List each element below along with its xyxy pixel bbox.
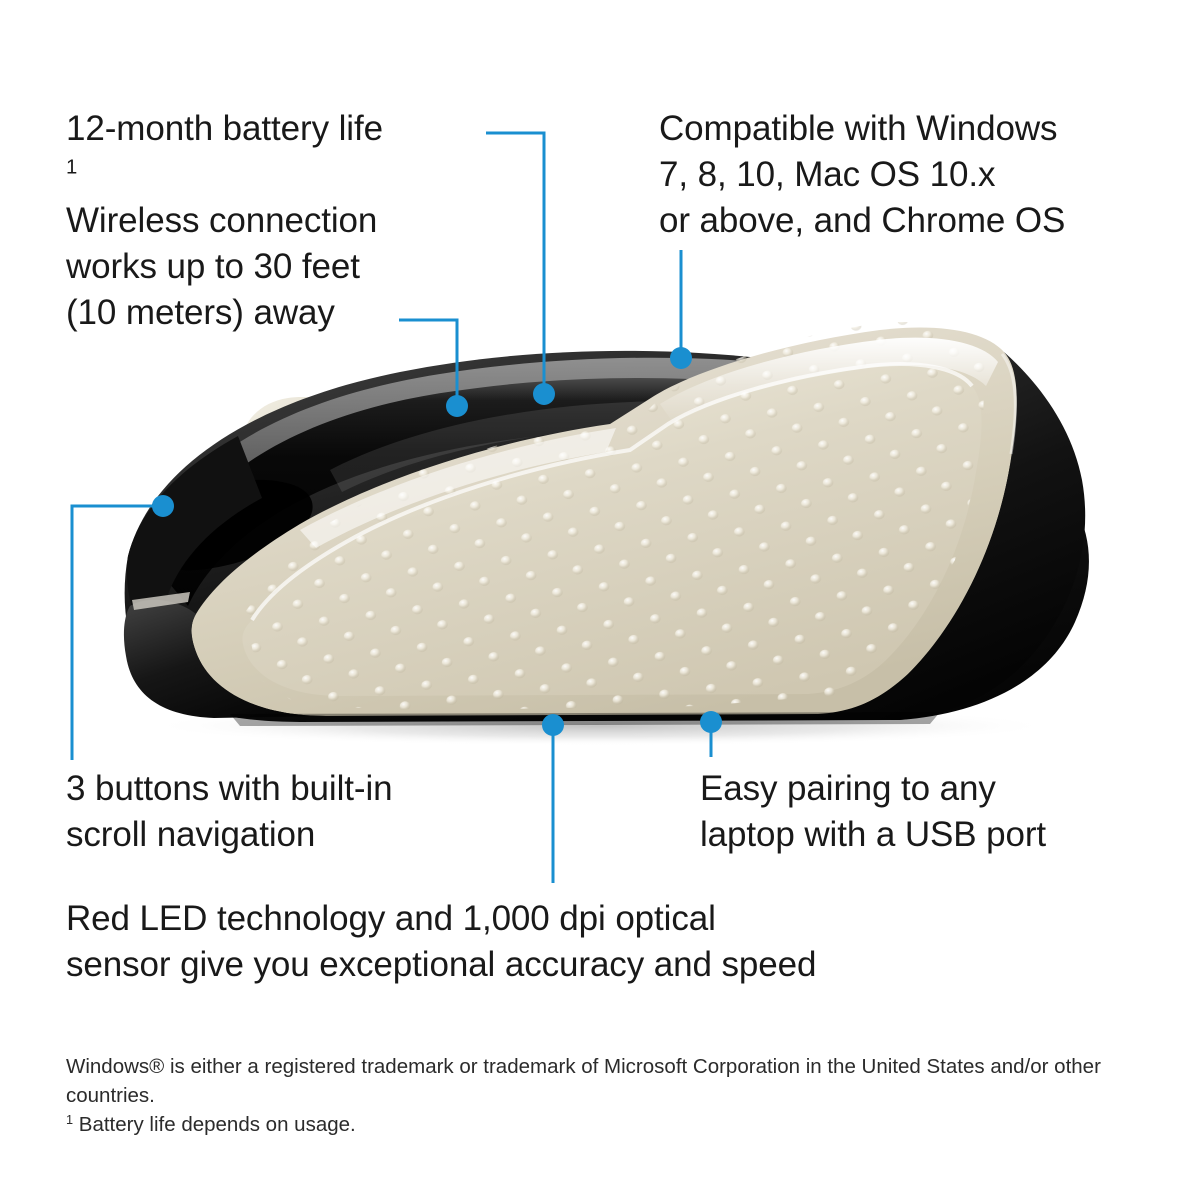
callout-wireless-range-line-2: works up to 30 feet: [66, 244, 377, 290]
callout-usb-pairing-line-2: laptop with a USB port: [700, 812, 1046, 858]
callout-wireless-range-line-3: (10 meters) away: [66, 290, 377, 336]
callout-led-sensor-line-2: sensor give you exceptional accuracy and…: [66, 942, 816, 988]
callout-led-sensor-line-1: Red LED technology and 1,000 dpi optical: [66, 896, 816, 942]
footnote-battery-text: Battery life depends on usage.: [73, 1113, 356, 1136]
callout-led-sensor: Red LED technology and 1,000 dpi optical…: [66, 896, 816, 988]
callout-usb-pairing-line-1: Easy pairing to any: [700, 766, 1046, 812]
callout-wireless-range-line-1: Wireless connection: [66, 198, 377, 244]
callout-battery-life-line-1: 12-month battery life: [66, 106, 383, 152]
body-bottom-shadow: [230, 712, 940, 726]
callout-os-compatibility: Compatible with Windows 7, 8, 10, Mac OS…: [659, 106, 1065, 244]
product-infographic: 12-month battery life1 Wireless connecti…: [0, 0, 1200, 1200]
footnotes: Windows® is either a registered trademar…: [66, 1052, 1156, 1139]
footnote-battery: 1 Battery life depends on usage.: [66, 1110, 1156, 1139]
footnote-trademark: Windows® is either a registered trademar…: [66, 1052, 1156, 1110]
footnote-marker-battery: 1: [66, 156, 77, 178]
callout-buttons-scroll: 3 buttons with built-in scroll navigatio…: [66, 766, 393, 858]
callout-buttons-scroll-line-1: 3 buttons with built-in: [66, 766, 393, 812]
callout-os-compatibility-line-1: Compatible with Windows: [659, 106, 1065, 152]
footnote-trademark-line-1: Windows® is either a registered trademar…: [66, 1055, 985, 1078]
callout-wireless-range: Wireless connection works up to 30 feet …: [66, 198, 377, 336]
callout-usb-pairing: Easy pairing to any laptop with a USB po…: [700, 766, 1046, 858]
callout-battery-life: 12-month battery life1: [66, 106, 383, 198]
callout-os-compatibility-line-2: 7, 8, 10, Mac OS 10.x: [659, 152, 1065, 198]
callout-buttons-scroll-line-2: scroll navigation: [66, 812, 393, 858]
callout-os-compatibility-line-3: or above, and Chrome OS: [659, 198, 1065, 244]
